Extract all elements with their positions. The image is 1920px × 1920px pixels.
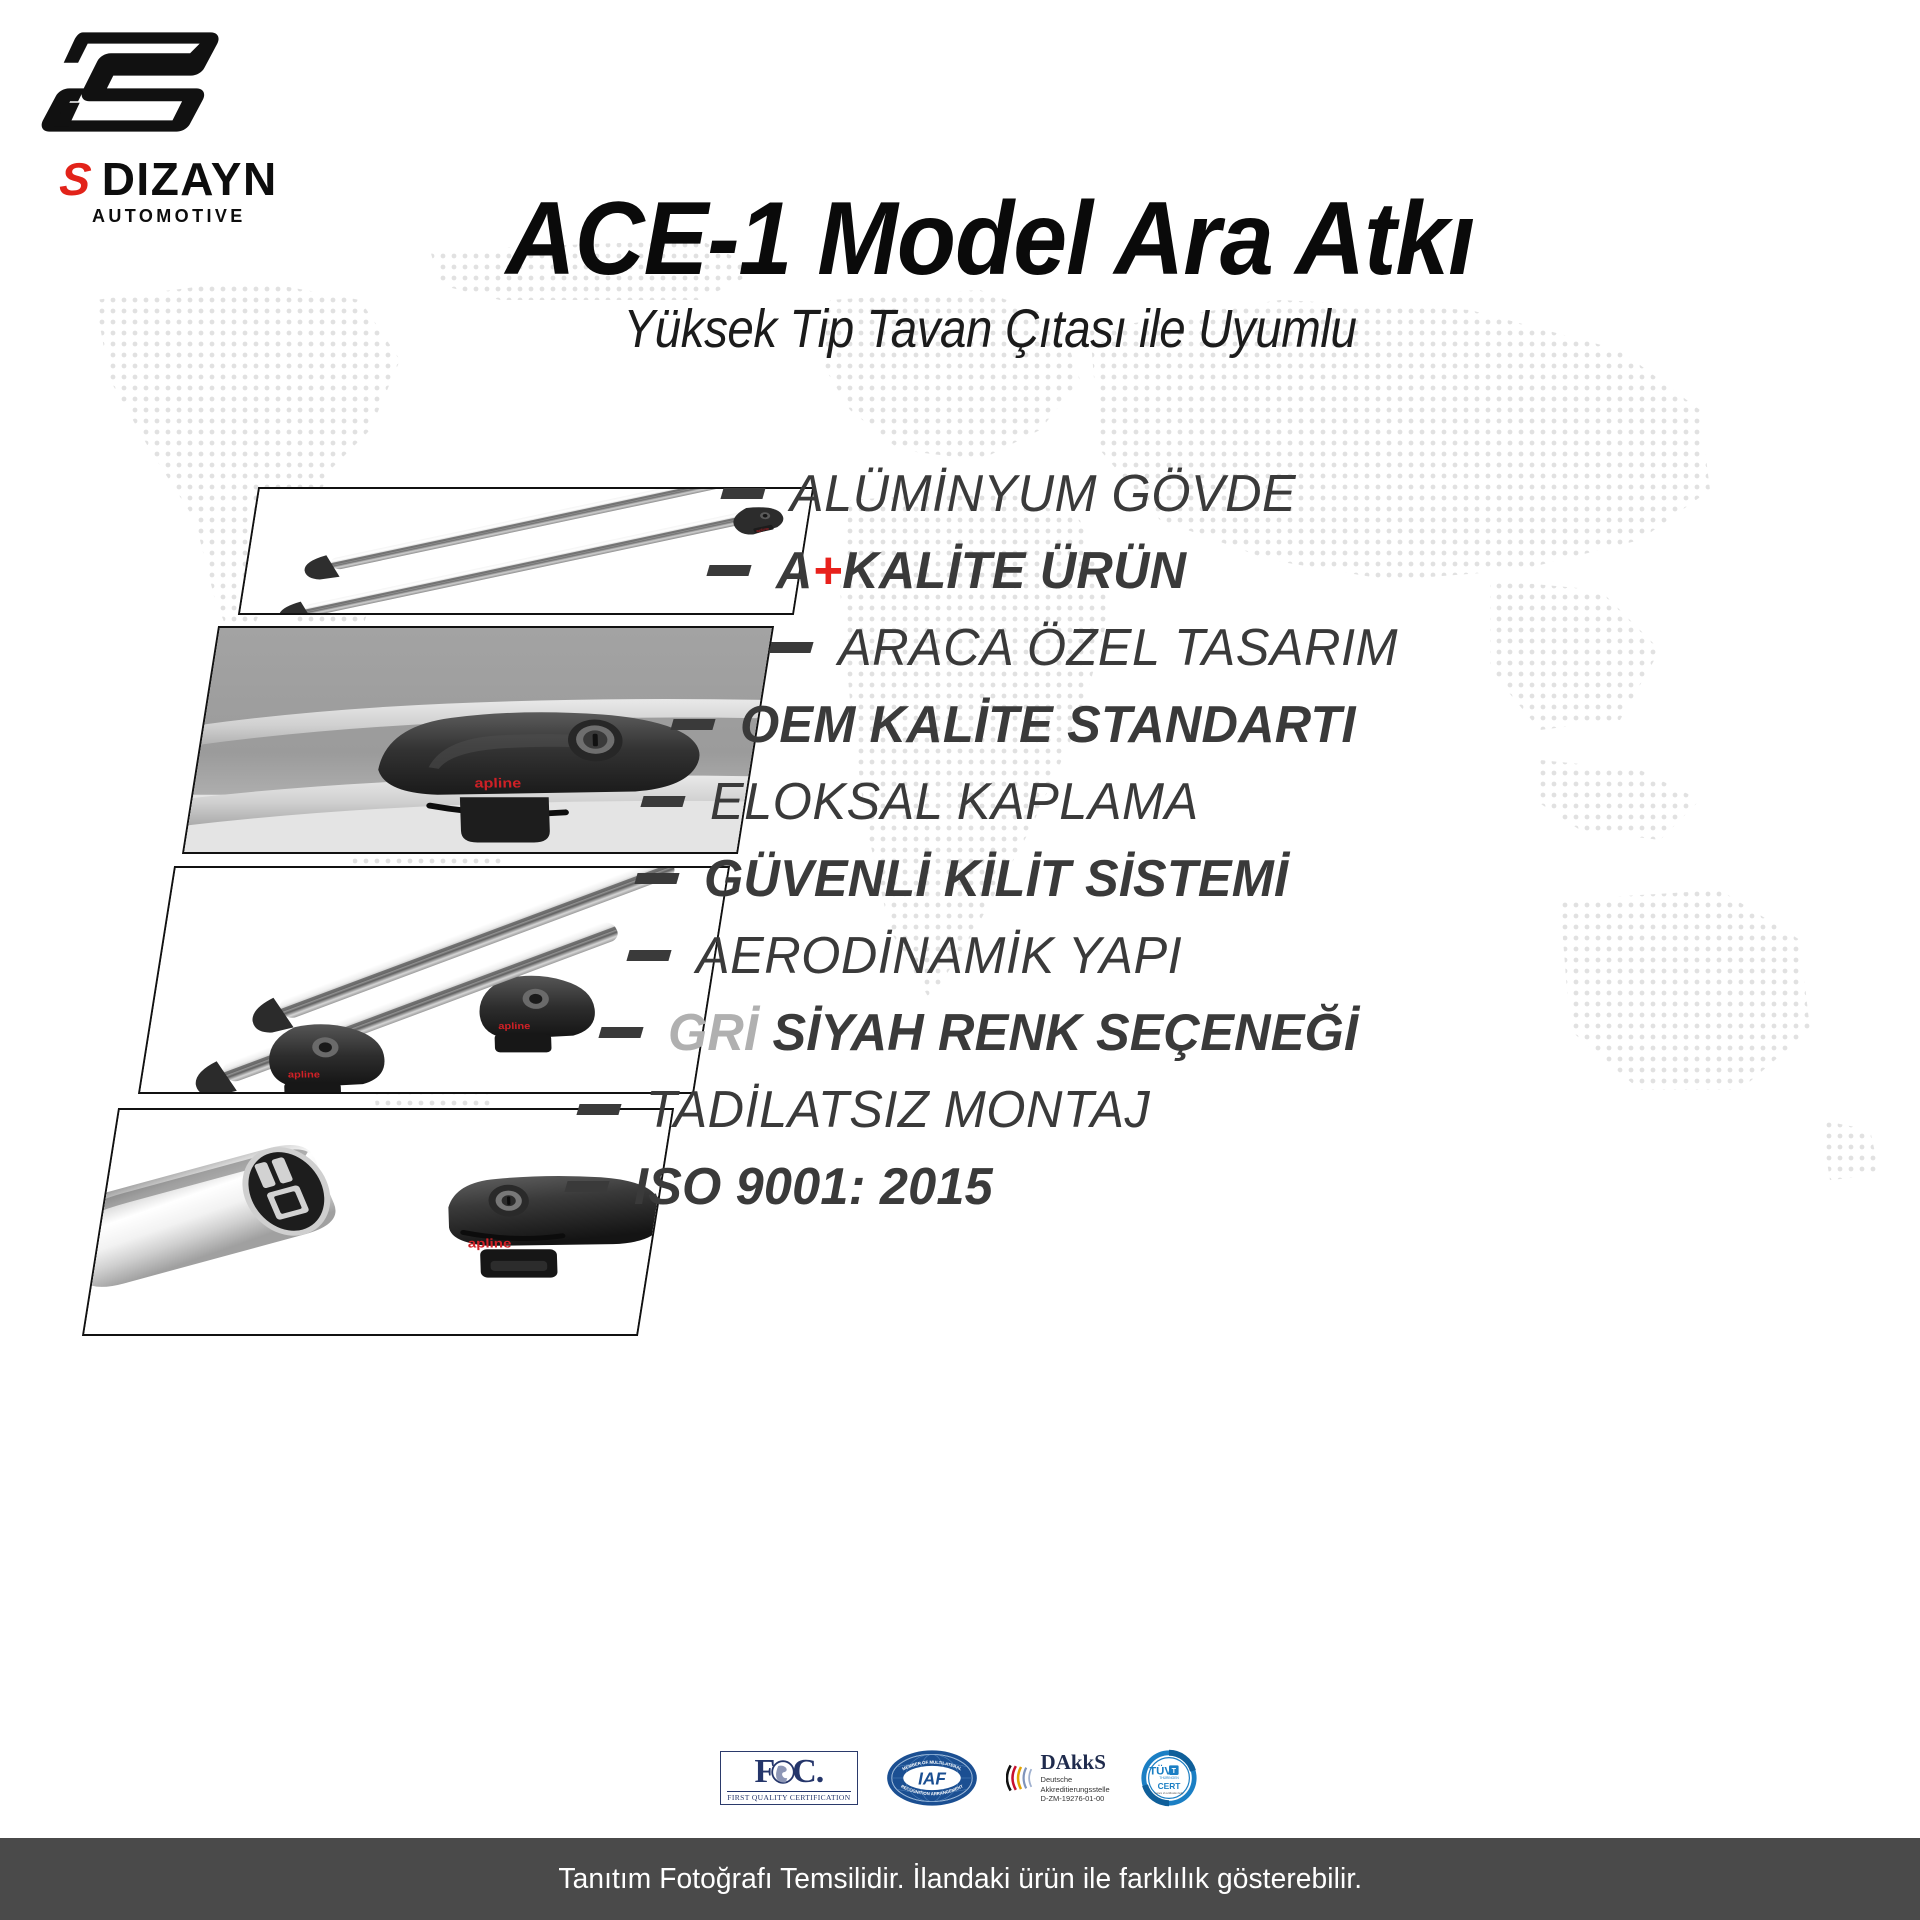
feature-item: GRİ SİYAH RENK SEÇENEĞİ <box>600 994 1900 1071</box>
dakks-arc-icon <box>1006 1761 1036 1795</box>
bullet-dash-icon <box>626 950 671 961</box>
fqc-letter-c: C. <box>792 1755 823 1789</box>
feature-item: A+KALİTE ÜRÜN <box>708 532 1900 609</box>
iaf-badge-icon: IAF MEMBER OF MULTILATERAL RECOGNITION A… <box>886 1749 978 1807</box>
cert-fqc: F C. FIRST QUALITY CERTIFICATION <box>720 1751 857 1805</box>
feature-label: GRİ SİYAH RENK SEÇENEĞİ <box>668 1007 1358 1059</box>
cert-iaf: IAF MEMBER OF MULTILATERAL RECOGNITION A… <box>886 1749 978 1807</box>
feature-label: ELOKSAL KAPLAMA <box>710 776 1199 828</box>
bullet-dash-icon <box>640 796 685 807</box>
feature-label-segment: A <box>776 542 813 600</box>
feature-label-segment: KALİTE ÜRÜN <box>842 542 1186 600</box>
cert-dakks-name: DAkkS <box>1041 1752 1110 1773</box>
cert-dakks: DAkkS Deutsche Akkreditierungsstelle D-Z… <box>1006 1752 1110 1804</box>
feature-item: ISO 9001: 2015 <box>566 1148 1900 1225</box>
svg-text:apline: apline <box>498 1021 531 1031</box>
feature-label-segment: SİYAH RENK SEÇENEĞİ <box>772 1004 1358 1062</box>
feature-label: ARACA ÖZEL TASARIM <box>838 622 1398 674</box>
disclaimer-text: Tanıtım Fotoğrafı Temsilidir. İlandaki ü… <box>558 1863 1362 1896</box>
bullet-dash-icon <box>634 873 679 884</box>
bullet-dash-icon <box>670 719 715 730</box>
cert-dakks-line2: Akkreditierungsstelle <box>1041 1785 1110 1795</box>
bullet-dash-icon <box>706 565 751 576</box>
feature-label-segment: GRİ <box>668 1004 772 1062</box>
bullet-dash-icon <box>598 1027 643 1038</box>
tuv-cert-badge-icon: TÜV T THÜRINGEN CERT system of certifica… <box>1138 1748 1200 1808</box>
bullet-dash-icon <box>576 1104 621 1115</box>
cert-dakks-line3: D-ZM-19276-01-00 <box>1041 1794 1110 1804</box>
disclaimer-bar: Tanıtım Fotoğrafı Temsilidir. İlandaki ü… <box>0 1838 1920 1920</box>
svg-text:CERT: CERT <box>1157 1781 1181 1791</box>
cert-dakks-line1: Deutsche <box>1041 1775 1110 1785</box>
feature-label: AERODİNAMİK YAPI <box>696 930 1182 982</box>
feature-label: OEM KALİTE STANDARTI <box>740 699 1356 751</box>
feature-item: ARACA ÖZEL TASARIM <box>770 609 1900 686</box>
feature-label: ALÜMİNYUM GÖVDE <box>790 468 1296 520</box>
feature-item: AERODİNAMİK YAPI <box>628 917 1900 994</box>
bullet-dash-icon <box>768 642 813 653</box>
svg-text:apline: apline <box>288 1070 321 1080</box>
feature-label: A+KALİTE ÜRÜN <box>776 545 1186 597</box>
feature-label-segment: + <box>813 542 843 600</box>
feature-item: OEM KALİTE STANDARTI <box>672 686 1900 763</box>
cert-fqc-subtitle: FIRST QUALITY CERTIFICATION <box>727 1791 850 1802</box>
product-poster: S DIZAYN AUTOMOTIVE ACE-1 Model Ara Atkı… <box>0 0 1920 1920</box>
feature-label: ISO 9001: 2015 <box>634 1161 993 1213</box>
feature-label: TADİLATSIZ MONTAJ <box>646 1084 1150 1136</box>
svg-text:system of certification body: system of certification body <box>1154 1792 1184 1795</box>
svg-text:apline: apline <box>467 1235 511 1249</box>
feature-item: ALÜMİNYUM GÖVDE <box>722 455 1900 532</box>
svg-text:apline: apline <box>474 776 521 790</box>
feature-item: ELOKSAL KAPLAMA <box>642 763 1900 840</box>
svg-text:T: T <box>1171 1766 1176 1775</box>
bullet-dash-icon <box>720 488 765 499</box>
cert-tuv: TÜV T THÜRINGEN CERT system of certifica… <box>1138 1748 1200 1808</box>
bullet-dash-icon <box>564 1181 609 1192</box>
feature-item: GÜVENLİ KİLİT SİSTEMİ <box>636 840 1900 917</box>
feature-list: ALÜMİNYUM GÖVDEA+KALİTE ÜRÜNARACA ÖZEL T… <box>700 455 1900 1225</box>
certification-badges: F C. FIRST QUALITY CERTIFICATION <box>0 1748 1920 1808</box>
svg-text:THÜRINGEN: THÜRINGEN <box>1159 1776 1179 1780</box>
svg-text:TÜV: TÜV <box>1149 1764 1172 1777</box>
svg-text:IAF: IAF <box>918 1768 946 1788</box>
feature-label: GÜVENLİ KİLİT SİSTEMİ <box>704 853 1288 905</box>
feature-item: TADİLATSIZ MONTAJ <box>578 1071 1900 1148</box>
